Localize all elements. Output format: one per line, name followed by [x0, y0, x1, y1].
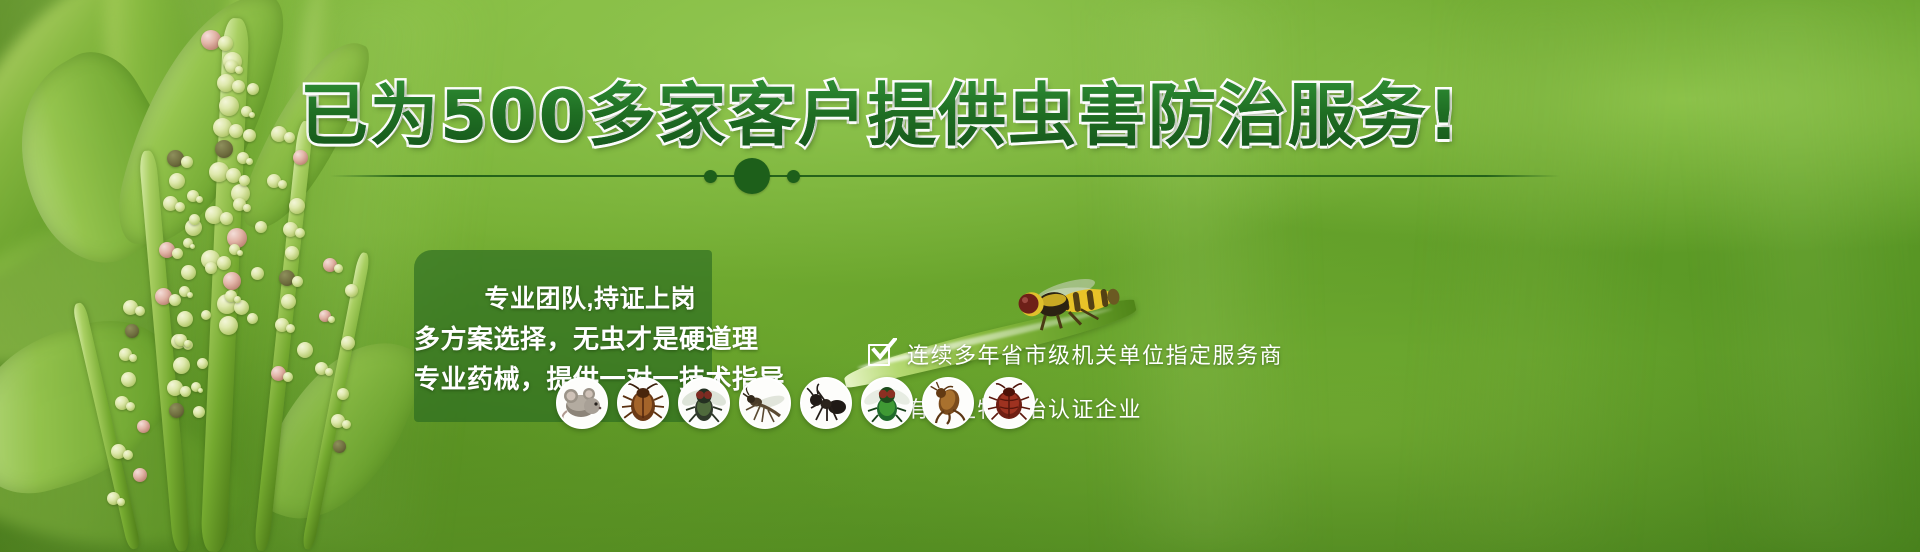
divider-dot-small — [704, 170, 717, 183]
divider-dot-small — [787, 170, 800, 183]
service-claim-line-1: 专业团队,持证上岗 — [414, 287, 712, 312]
bedbug-icon[interactable] — [983, 377, 1035, 429]
page-title-outline: 已为500多家客户提供虫害防治服务! — [300, 76, 1600, 158]
checklist-item: 连续多年省市级机关单位指定服务商 — [868, 338, 1283, 370]
pest-types-icon-row — [556, 377, 1035, 429]
cockroach-icon[interactable] — [617, 377, 669, 429]
checklist-item-label: 连续多年省市级机关单位指定服务商 — [907, 338, 1283, 370]
divider — [330, 175, 1560, 177]
mosquito-icon[interactable] — [739, 377, 791, 429]
service-claim-line-2: 多方案选择，无虫才是硬道理 — [414, 326, 720, 352]
divider-dots — [704, 158, 800, 194]
pest-control-hero-banner: 已为500多家客户提供虫害防治服务! 已为500多家客户提供虫害防治服务! — [0, 0, 1920, 552]
checkbox-checked-icon — [868, 342, 893, 367]
ant-icon[interactable] — [800, 377, 852, 429]
flea-icon[interactable] — [922, 377, 974, 429]
fly-icon[interactable] — [678, 377, 730, 429]
divider-dot-large — [734, 158, 770, 194]
mouse-icon[interactable] — [556, 377, 608, 429]
blowfly-icon[interactable] — [861, 377, 913, 429]
